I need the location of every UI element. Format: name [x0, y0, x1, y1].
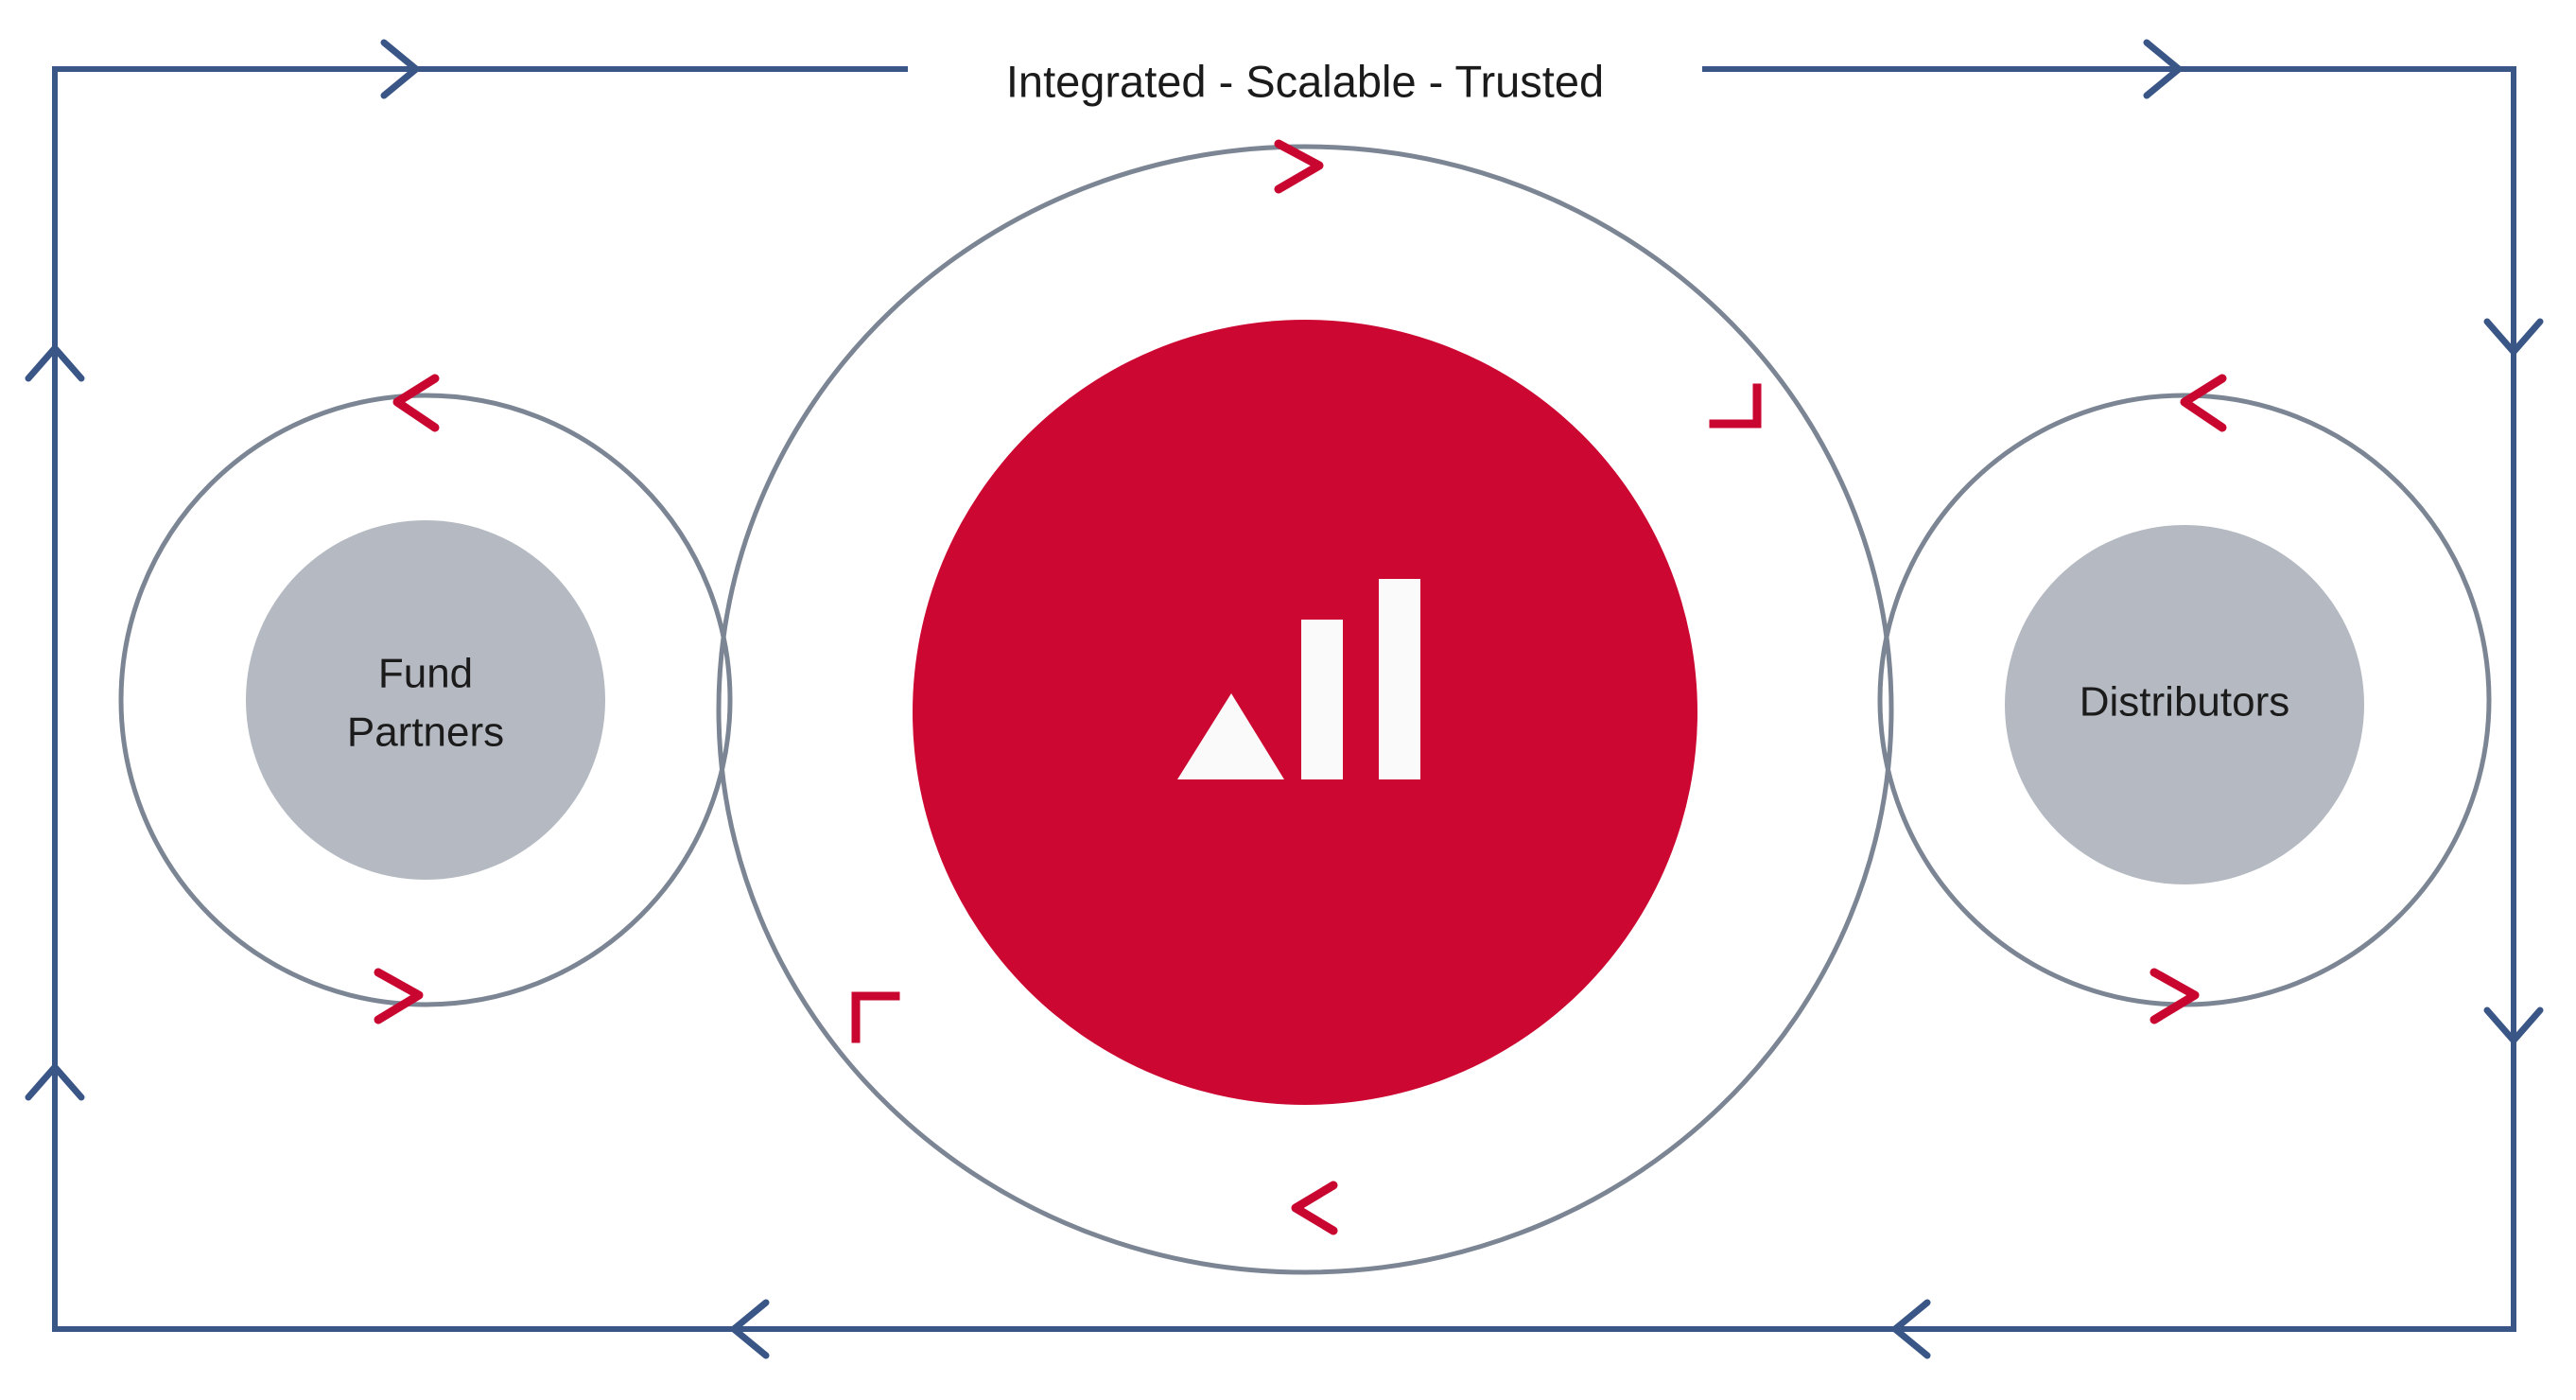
- distributors-arrow-bottom: [2154, 972, 2195, 1020]
- fund-partners-label-line2: Partners: [347, 709, 504, 756]
- diagram-canvas: Integrated - Scalable - Trusted Integrat…: [0, 0, 2576, 1400]
- node-fund-partners[interactable]: Fund Partners: [246, 520, 605, 880]
- fund-partners-disc[interactable]: [246, 520, 605, 880]
- node-allfunds-center[interactable]: [913, 320, 1697, 1105]
- distributors-arrow-top: [2184, 378, 2222, 428]
- fund-partners-label-line1: Fund: [378, 651, 473, 697]
- fund-partners-arrow-bottom: [378, 972, 419, 1020]
- center-loop-arrow-top: [1279, 144, 1319, 189]
- ecosystem-diagram: Integrated - Scalable - Trusted Integrat…: [0, 0, 2576, 1400]
- logo-bar-medium: [1301, 620, 1343, 779]
- diagram-title-text: Integrated - Scalable - Trusted: [1006, 56, 1604, 106]
- center-loop-arrow-bottom: [1296, 1185, 1333, 1231]
- center-loop-corner-left: [856, 996, 896, 1039]
- node-distributors[interactable]: Distributors: [2005, 525, 2364, 884]
- logo-bar-tall: [1379, 579, 1420, 779]
- fund-partners-arrow-top: [397, 378, 435, 428]
- distributors-label: Distributors: [2080, 679, 2290, 726]
- center-loop-corner-right: [1714, 388, 1757, 424]
